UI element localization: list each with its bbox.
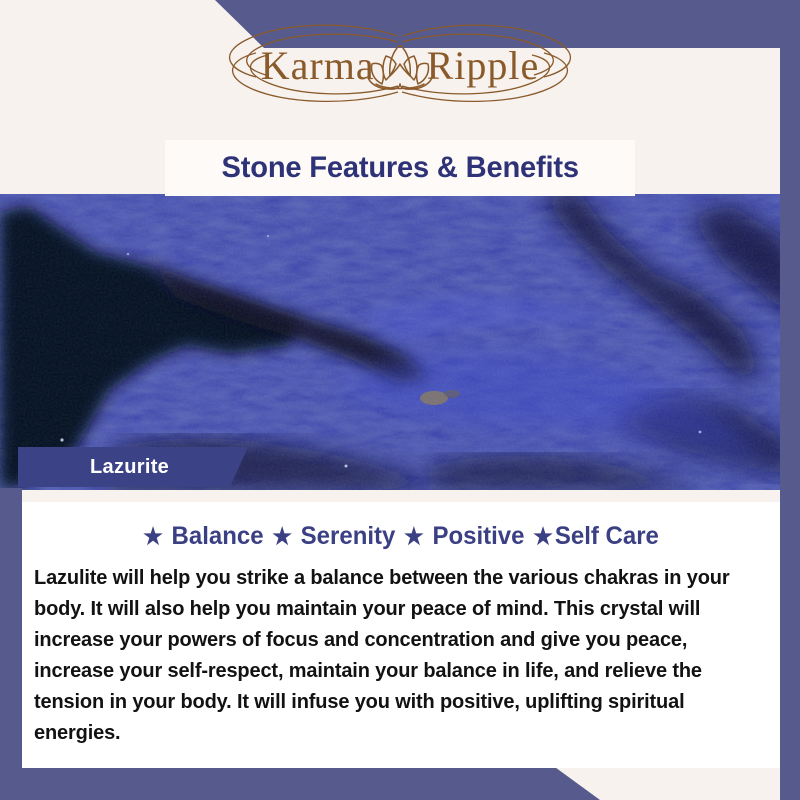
keyword-self-care: Self Care xyxy=(555,522,659,550)
star-icon-1: ★ xyxy=(143,523,163,549)
star-icon-3: ★ xyxy=(404,523,424,549)
stone-photo xyxy=(0,194,800,490)
content-top-strip xyxy=(22,490,780,502)
stone-name-label: Lazurite xyxy=(18,456,169,479)
stone-description: Lazulite will help you strike a balance … xyxy=(34,562,754,748)
brand-name-right: Ripple xyxy=(427,42,540,89)
brand-header: Karma Ripple xyxy=(0,0,800,130)
keyword-serenity: Serenity xyxy=(301,522,396,550)
stone-info-card: Karma Ripple Stone Features & Benefits L… xyxy=(0,0,800,800)
keyword-positive: Positive xyxy=(432,522,524,550)
content-panel: ★Balance★Serenity★Positive★Self Care Laz… xyxy=(22,490,780,768)
decor-slate-left xyxy=(0,488,22,800)
keyword-list: ★Balance★Serenity★Positive★Self Care xyxy=(37,522,765,551)
section-title-box: Stone Features & Benefits xyxy=(165,140,635,196)
star-icon-2: ★ xyxy=(272,523,292,549)
brand-logo[interactable]: Karma Ripple xyxy=(190,22,610,108)
brand-wordmark: Karma Ripple xyxy=(190,42,610,89)
brand-name-left: Karma xyxy=(261,42,375,89)
stone-photo-texture xyxy=(0,194,800,490)
keyword-balance: Balance xyxy=(172,522,264,550)
page-title: Stone Features & Benefits xyxy=(221,151,578,185)
stone-name-banner: Lazurite xyxy=(18,447,248,487)
star-icon-4: ★ xyxy=(533,523,553,549)
